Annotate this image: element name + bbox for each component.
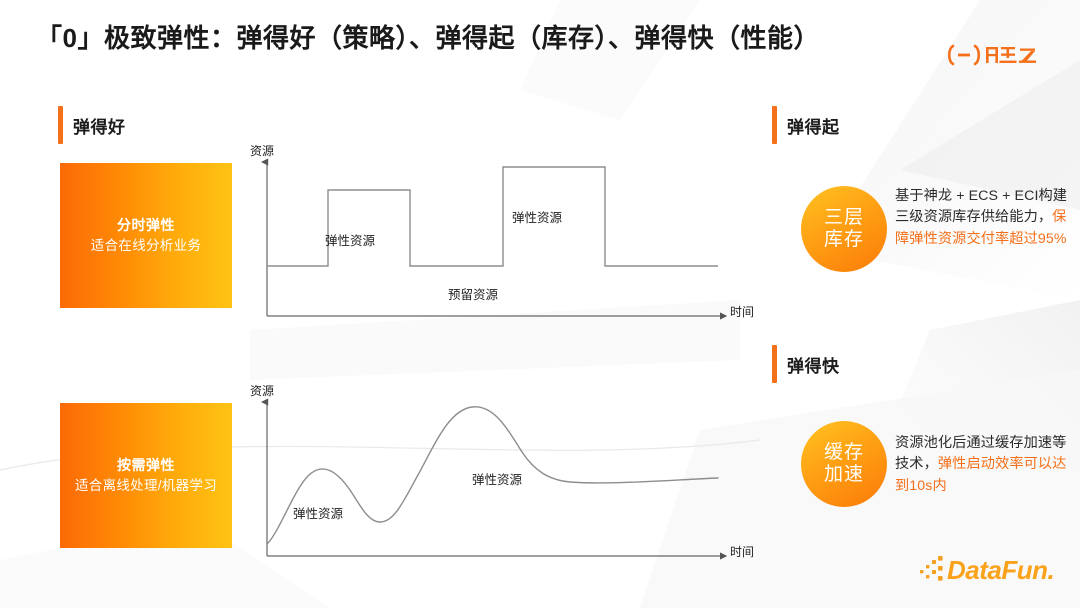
chart2-annotation-1: 弹性资源 xyxy=(472,469,522,488)
chart2-y-axis-label: 资源 xyxy=(250,382,274,399)
description-tande-qi: 基于神龙 + ECS + ECI构建三级资源库存供给能力，保障弹性资源交付率超过… xyxy=(895,186,1080,250)
badge-circle-huancun-jiasu[interactable]: 缓存 加速 xyxy=(801,421,887,507)
chart1-annotation-0: 弹性资源 xyxy=(325,230,375,249)
orange-card-anxu-tanxing[interactable]: 按需弹性 适合离线处理/机器学习 xyxy=(60,403,232,548)
accent-bar-icon xyxy=(772,345,777,383)
chart-ondemand-elasticity: 资源 时间 弹性资源 弹性资源 xyxy=(250,380,750,570)
slide-root: 「0」极致弹性：弹得好（策略）、弹得起（库存）、弹得快（性能） 弹得好 分时弹性… xyxy=(0,0,1080,608)
chart1-y-axis-label: 资源 xyxy=(250,142,274,159)
svg-text:DataFun.: DataFun. xyxy=(947,555,1054,585)
chart1-annotation-1: 预留资源 xyxy=(448,284,498,303)
section-heading-tande-kuai: 弹得快 xyxy=(772,345,840,383)
orange-card-fenshi-tanxing[interactable]: 分时弹性 适合在线分析业务 xyxy=(60,163,232,308)
chart2-annotation-0: 弹性资源 xyxy=(293,503,343,522)
datafun-logo: DataFun. xyxy=(918,552,1058,586)
chart-step-elasticity: 资源 时间 弹性资源 预留资源 弹性资源 xyxy=(250,140,750,330)
section-title-text: 弹得快 xyxy=(787,352,840,377)
badge-circle-line2: 库存 xyxy=(824,229,864,251)
badge-circle-sanceng-kucun[interactable]: 三层 库存 xyxy=(801,186,887,272)
badge-circle-line1: 三层 xyxy=(824,207,864,229)
badge-circle-line2: 加速 xyxy=(824,464,864,486)
section-heading-tande-hao: 弹得好 xyxy=(58,106,126,144)
section-title-text: 弹得起 xyxy=(787,113,840,138)
chart1-x-axis-label: 时间 xyxy=(730,303,754,320)
orange-card-subtitle: 适合在线分析业务 xyxy=(91,236,201,256)
orange-card-subtitle: 适合离线处理/机器学习 xyxy=(75,476,217,496)
badge-circle-line1: 缓存 xyxy=(824,442,864,464)
section-title-text: 弹得好 xyxy=(73,113,126,138)
alibaba-cloud-logo xyxy=(945,42,1037,68)
chart1-annotation-2: 弹性资源 xyxy=(512,207,562,226)
accent-bar-icon xyxy=(58,106,63,144)
description-plain-text: 基于神龙 + ECS + ECI构建三级资源库存供给能力， xyxy=(895,188,1067,225)
orange-card-title: 分时弹性 xyxy=(117,215,175,236)
accent-bar-icon xyxy=(772,106,777,144)
section-heading-tande-qi: 弹得起 xyxy=(772,106,840,144)
chart2-x-axis-label: 时间 xyxy=(730,543,754,560)
description-tande-kuai: 资源池化后通过缓存加速等技术，弹性启动效率可以达到10s内 xyxy=(895,433,1080,497)
page-title: 「0」极致弹性：弹得好（策略）、弹得起（库存）、弹得快（性能） xyxy=(36,18,820,55)
orange-card-title: 按需弹性 xyxy=(117,455,175,476)
